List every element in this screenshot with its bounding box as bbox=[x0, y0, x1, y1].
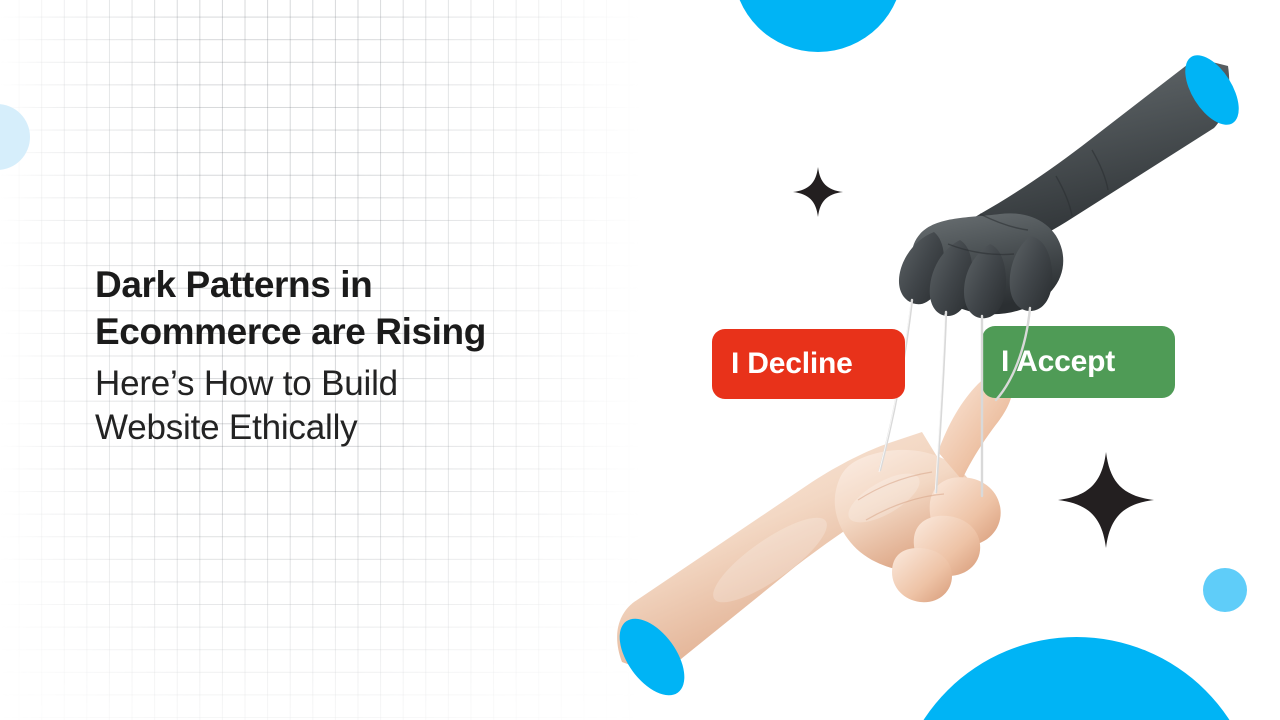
decor-circle-small-right bbox=[1203, 568, 1247, 612]
poster-canvas: Dark Patterns in Ecommerce are Rising He… bbox=[0, 0, 1280, 720]
decline-button[interactable]: I Decline bbox=[712, 329, 905, 399]
page-subtitle: Here’s How to Build Website Ethically bbox=[95, 362, 615, 450]
decor-circle-top-right bbox=[733, 0, 903, 52]
page-title: Dark Patterns in Ecommerce are Rising bbox=[95, 262, 615, 355]
puppeteer-arm bbox=[899, 46, 1250, 318]
accept-button[interactable]: I Accept bbox=[982, 326, 1175, 398]
decor-circle-left-pale bbox=[0, 104, 30, 170]
puppeteer-arm-cut-end bbox=[1174, 46, 1249, 133]
decor-circle-bottom-big bbox=[894, 637, 1259, 720]
sparkle-star-icon-bottom bbox=[1058, 452, 1154, 548]
sparkle-star-icon-top bbox=[793, 167, 843, 217]
human-arm-cut-end bbox=[607, 607, 698, 706]
human-arm bbox=[607, 363, 1013, 707]
headline-block: Dark Patterns in Ecommerce are Rising He… bbox=[95, 262, 615, 450]
